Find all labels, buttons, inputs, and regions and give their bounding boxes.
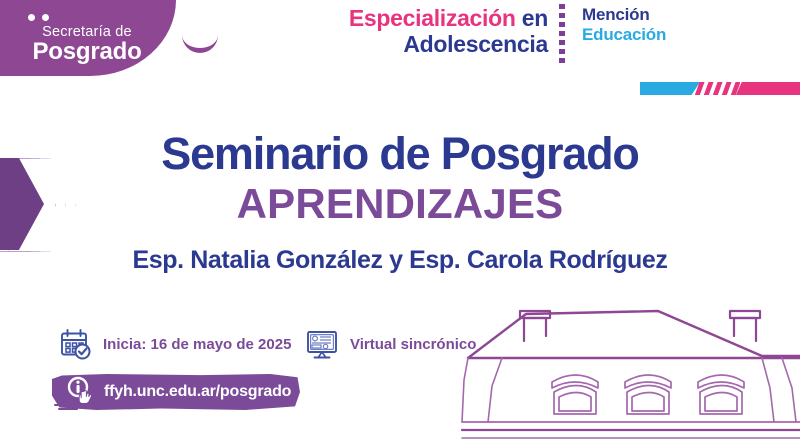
info-item-date: Inicia: 16 de mayo de 2025: [58, 327, 291, 361]
decorative-stripe-bar: [640, 82, 800, 95]
page-subtitle: APRENDIZAJES: [0, 180, 800, 228]
speakers-line: Esp. Natalia González y Esp. Carola Rodr…: [0, 246, 800, 275]
stripe-bar-pink-segment: [736, 82, 800, 95]
info-date-text: Inicia: 16 de mayo de 2025: [103, 336, 291, 353]
program-title-line2: Adolescencia: [300, 31, 548, 57]
program-title: Especialización en Adolescencia: [300, 5, 548, 58]
mencion-block: Mención Educación: [582, 5, 666, 45]
website-url-text[interactable]: ffyh.unc.edu.ar/posgrado: [104, 383, 291, 401]
stripe-bar-blue-segment: [640, 82, 700, 95]
flyer-canvas: Secretaría de Posgrado Especialización e…: [0, 0, 800, 445]
building-line-art-icon: [462, 296, 800, 445]
smile-arc-icon: [182, 30, 218, 53]
program-title-connector: en: [522, 5, 548, 31]
info-item-modality: Virtual sincrónico: [305, 327, 476, 361]
info-hand-pointer-icon: [64, 376, 104, 408]
logo-dots-icon: [28, 14, 49, 21]
mencion-value: Educación: [582, 25, 666, 45]
website-banner[interactable]: ffyh.unc.edu.ar/posgrado: [52, 372, 300, 412]
info-modality-text: Virtual sincrónico: [350, 336, 476, 353]
monitor-screen-icon: [305, 327, 339, 361]
calendar-check-icon: [58, 327, 92, 361]
stripe-bar-diagonal-stripes: [695, 82, 740, 95]
header-dotted-divider: [559, 4, 565, 66]
page-title: Seminario de Posgrado: [0, 128, 800, 180]
logo-line-2: Posgrado: [12, 38, 162, 66]
program-title-emphasis: Especialización: [349, 5, 516, 31]
mencion-label: Mención: [582, 5, 666, 25]
